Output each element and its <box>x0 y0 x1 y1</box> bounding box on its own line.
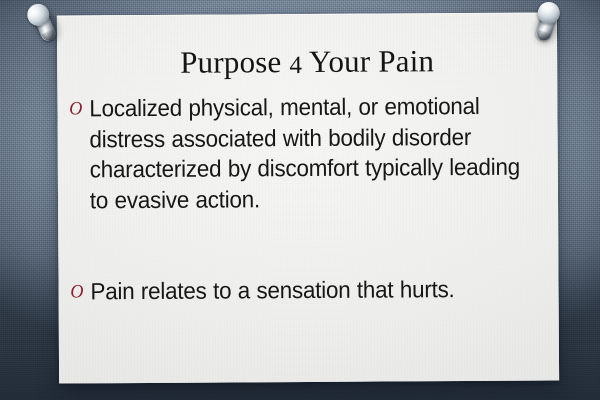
slide-title-numeral: 4 <box>289 52 302 79</box>
bullet-item-2-text: Pain relates to a sensation that hurts. <box>90 274 536 307</box>
bullet-item-1: O Localized physical, mental, or emotion… <box>65 91 536 216</box>
paper-sheet: Purpose 4 Your Pain O Localized physical… <box>57 12 559 383</box>
presentation-slide: Purpose 4 Your Pain O Localized physical… <box>0 0 600 400</box>
bullet-item-1-text: Localized physical, mental, or emotional… <box>89 91 536 216</box>
slide-title: Purpose 4 Your Pain <box>57 42 557 85</box>
slide-content: Purpose 4 Your Pain O Localized physical… <box>57 12 559 383</box>
slide-title-after: Your Pain <box>302 43 434 79</box>
slide-title-before: Purpose <box>180 44 289 80</box>
bullet-list: O Localized physical, mental, or emotion… <box>65 90 558 307</box>
bullet-item-2: O Pain relates to a sensation that hurts… <box>66 274 536 307</box>
bullet-marker-icon: O <box>70 277 83 307</box>
bullet-marker-icon: O <box>69 94 82 124</box>
